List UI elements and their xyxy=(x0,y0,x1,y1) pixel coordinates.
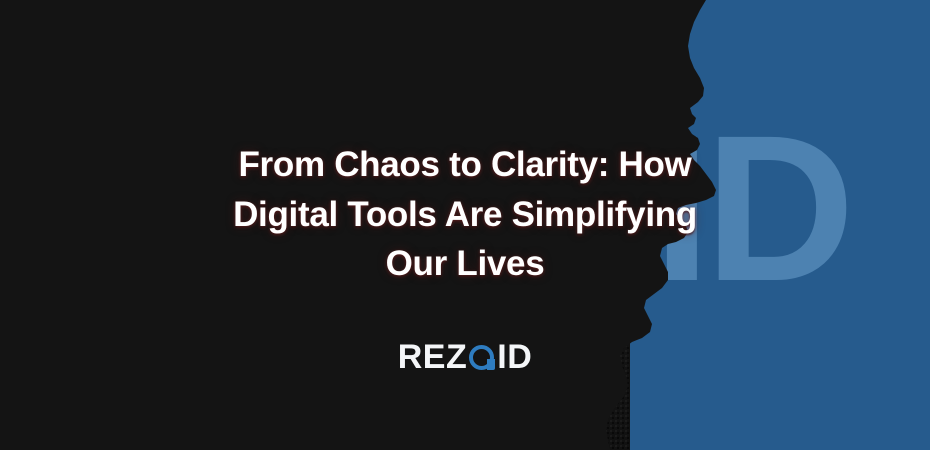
logo-a-ring-icon xyxy=(469,344,495,371)
page-title: From Chaos to Clarity: How Digital Tools… xyxy=(120,140,810,289)
brand-logo: REZ ID xyxy=(0,340,930,374)
headline-line-3: Our Lives xyxy=(386,244,545,283)
headline-line-2: Digital Tools Are Simplifying xyxy=(233,195,697,234)
logo-prefix: REZ xyxy=(398,340,468,374)
headline-line-1: From Chaos to Clarity: How xyxy=(238,145,691,184)
logo-suffix: ID xyxy=(497,340,532,374)
headline-container: From Chaos to Clarity: How Digital Tools… xyxy=(0,140,930,289)
blog-banner: REZ ID From Chaos to Clarity: How Digita… xyxy=(0,0,930,450)
